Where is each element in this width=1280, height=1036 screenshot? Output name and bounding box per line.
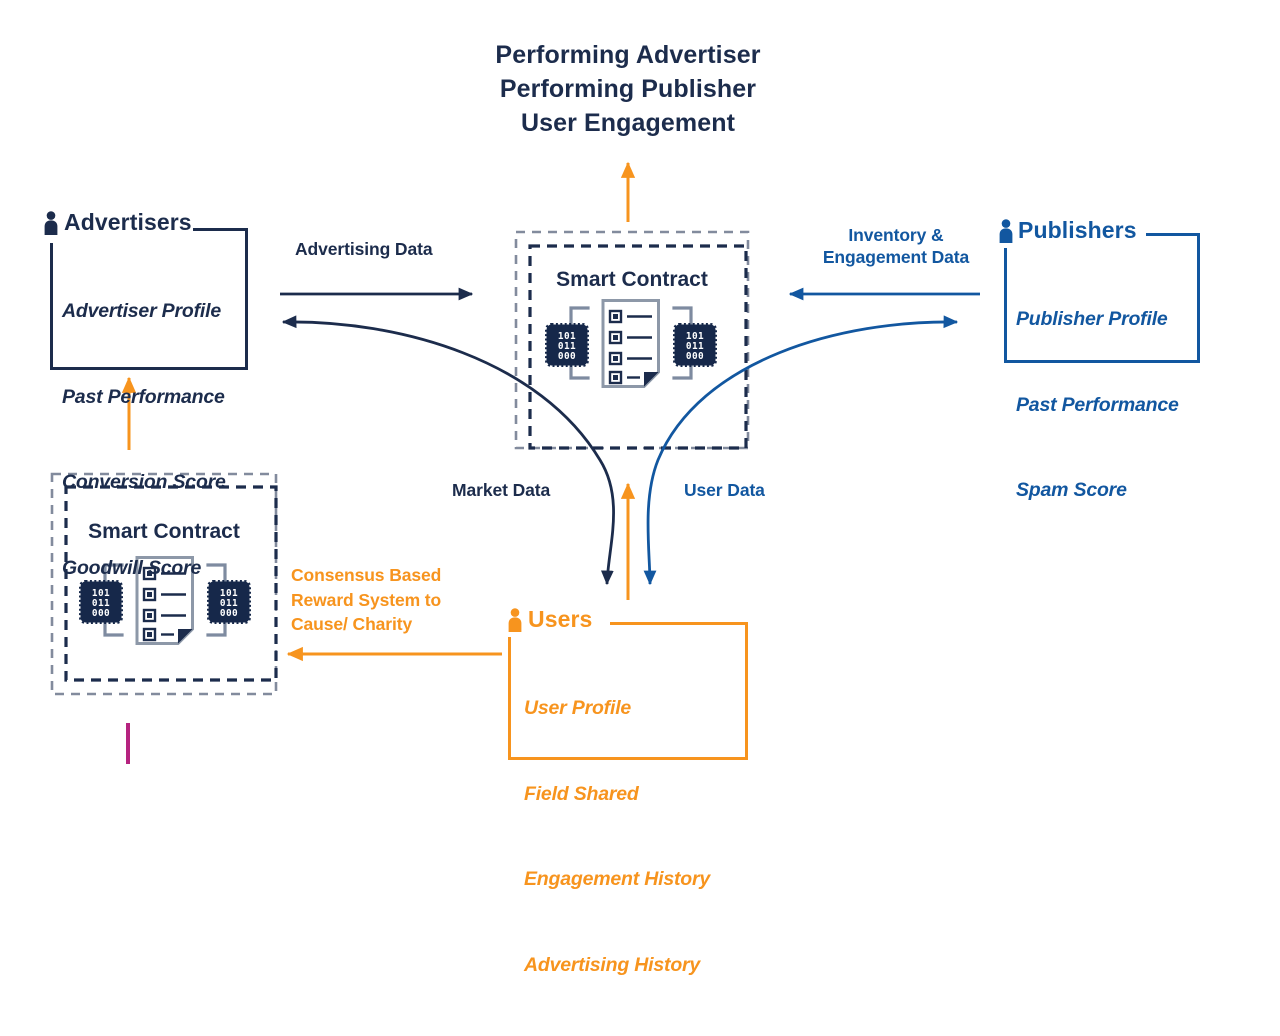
list-item: Advertiser Profile <box>62 297 226 326</box>
label-user-data: User Data <box>684 479 765 501</box>
users-person-icon <box>509 608 522 632</box>
outcome-line-3: User Engagement <box>430 106 826 140</box>
advertisers-person-icon <box>45 211 58 235</box>
list-item: Conversion Score <box>62 468 226 497</box>
list-item: Publisher Profile <box>1016 305 1179 334</box>
list-item: Spam Score <box>1016 476 1179 505</box>
users-title: Users <box>528 606 592 633</box>
label-consensus-reward: Consensus Based Reward System to Cause/ … <box>291 563 441 637</box>
outcomes-heading: Performing Advertiser Performing Publish… <box>430 38 826 140</box>
label-advertising-data: Advertising Data <box>295 238 432 260</box>
outcome-line-2: Performing Publisher <box>430 72 826 106</box>
publishers-person-icon <box>1000 219 1013 243</box>
list-item: User Profile <box>524 694 710 723</box>
list-item: Goodwill Score <box>62 554 226 583</box>
list-item: Past Performance <box>62 383 226 412</box>
outcome-line-1: Performing Advertiser <box>430 38 826 72</box>
users-list: User Profile Field Shared Engagement His… <box>524 637 710 1036</box>
list-item: Advertising History <box>524 951 710 980</box>
list-item: Engagement History <box>524 865 710 894</box>
publishers-title: Publishers <box>1018 217 1137 244</box>
list-item: Field Shared <box>524 780 710 809</box>
diagram-canvas: 101 011 000 101 011 000 <box>0 0 1280 764</box>
smart-contract-icon-center <box>547 301 716 387</box>
publishers-list: Publisher Profile Past Performance Spam … <box>1016 248 1179 562</box>
label-market-data: Market Data <box>452 479 550 501</box>
smart-contract-bottomleft-title: Smart Contract <box>52 520 276 544</box>
smart-contract-center-title: Smart Contract <box>516 268 748 292</box>
advertisers-list: Advertiser Profile Past Performance Conv… <box>62 240 226 639</box>
list-item: Past Performance <box>1016 391 1179 420</box>
advertisers-title: Advertisers <box>64 209 192 236</box>
label-inventory-engagement-data: Inventory & Engagement Data <box>799 224 993 268</box>
